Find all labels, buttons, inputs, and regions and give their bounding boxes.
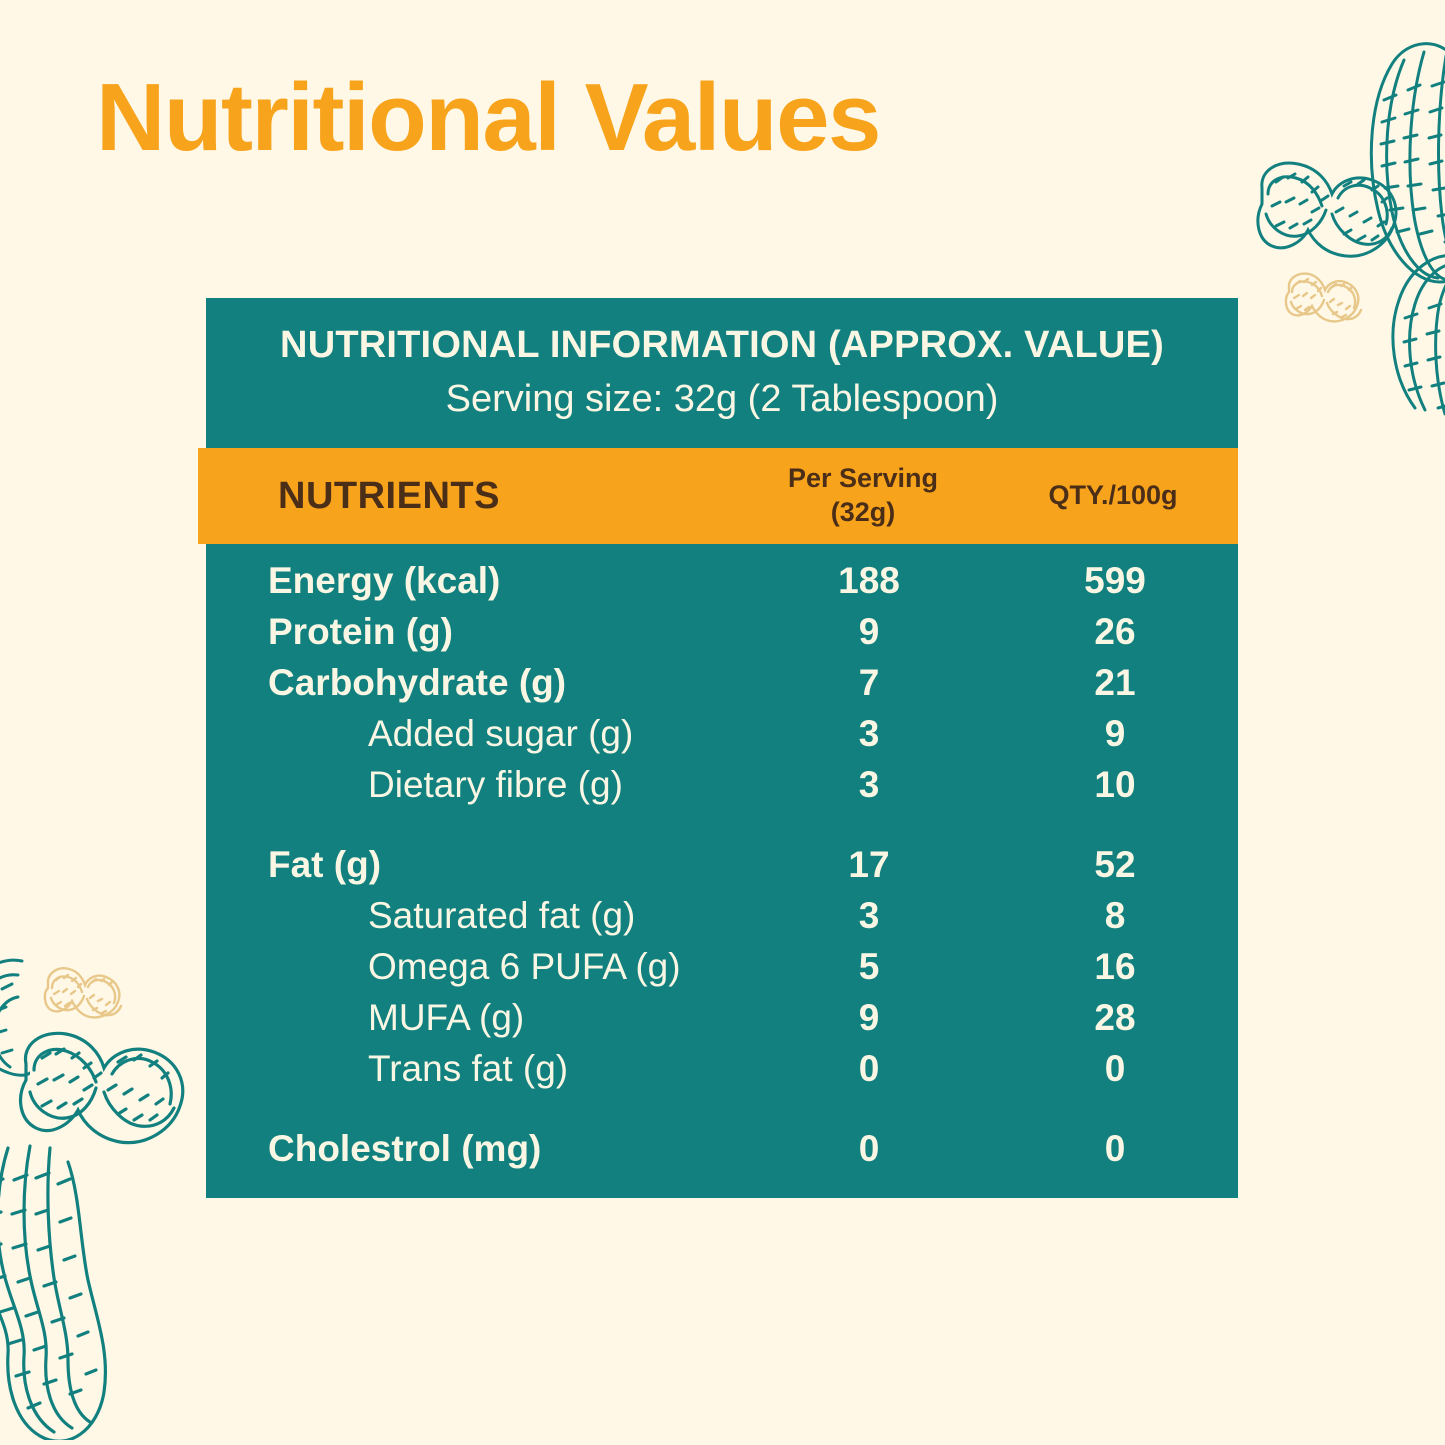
nutrient-label: Trans fat (g): [206, 1048, 746, 1090]
column-header-per-serving: Per Serving (32g): [738, 462, 988, 530]
nutrient-value-per-100g: 0: [992, 1048, 1238, 1090]
page-title: Nutritional Values: [96, 68, 880, 169]
table-row: Dietary fibre (g)310: [206, 764, 1238, 815]
column-header-per-serving-line1: Per Serving: [788, 463, 938, 493]
nutrient-value-per-serving: 3: [746, 895, 992, 937]
column-header-nutrients: NUTRIENTS: [198, 475, 738, 518]
nutrient-label: Saturated fat (g): [206, 895, 746, 937]
nutrient-label: Dietary fibre (g): [206, 764, 746, 806]
nutrient-value-per-serving: 9: [746, 997, 992, 1039]
peanut-illustration-bottom-left-wide: [14, 1024, 189, 1154]
nutrient-value-per-100g: 16: [992, 946, 1238, 988]
nutrient-value-per-serving: 17: [746, 844, 992, 886]
table-row: Cholestrol (mg)00: [206, 1128, 1238, 1179]
table-row: MUFA (g)928: [206, 997, 1238, 1048]
nutrient-label: Added sugar (g): [206, 713, 746, 755]
nutrient-value-per-100g: 26: [992, 611, 1238, 653]
nutrient-label: MUFA (g): [206, 997, 746, 1039]
nutrient-value-per-100g: 9: [992, 713, 1238, 755]
peanut-illustration-top-right-lower: [1375, 238, 1445, 418]
nutrient-value-per-serving: 3: [746, 764, 992, 806]
nutrient-label: Fat (g): [206, 844, 746, 886]
table-row: Fat (g)1752: [206, 844, 1238, 895]
panel-header-title: NUTRITIONAL INFORMATION (APPROX. VALUE): [206, 324, 1238, 368]
nutrient-value-per-serving: 9: [746, 611, 992, 653]
panel-header: NUTRITIONAL INFORMATION (APPROX. VALUE) …: [206, 298, 1238, 421]
nutrient-label: Protein (g): [206, 611, 746, 653]
panel-serving-size: Serving size: 32g (2 Tablespoon): [206, 378, 1238, 422]
nutrient-value-per-serving: 5: [746, 946, 992, 988]
nutrient-label: Energy (kcal): [206, 560, 746, 602]
nutrient-label: Cholestrol (mg): [206, 1128, 746, 1170]
table-row: Omega 6 PUFA (g)516: [206, 946, 1238, 997]
nutrient-value-per-100g: 10: [992, 764, 1238, 806]
table-row: Trans fat (g)00: [206, 1048, 1238, 1099]
table-column-header-row: NUTRIENTS Per Serving (32g) QTY./100g: [198, 448, 1238, 544]
nutrient-value-per-serving: 0: [746, 1048, 992, 1090]
peanut-illustration-top-right-small: [1283, 268, 1363, 324]
table-row: Carbohydrate (g)721: [206, 662, 1238, 713]
nutrient-value-per-100g: 0: [992, 1128, 1238, 1170]
nutrient-value-per-100g: 599: [992, 560, 1238, 602]
peanut-illustration-top-right-large: [1348, 30, 1445, 290]
nutrient-value-per-100g: 28: [992, 997, 1238, 1039]
poster-canvas: Nutritional Values NUTRITIONAL INFORMATI…: [0, 0, 1445, 1445]
nutrient-value-per-serving: 0: [746, 1128, 992, 1170]
nutrient-value-per-100g: 52: [992, 844, 1238, 886]
table-row: Protein (g)926: [206, 611, 1238, 662]
column-header-per-serving-line2: (32g): [738, 496, 988, 530]
peanut-illustration-bottom-left-tall: [0, 1140, 111, 1440]
nutrition-information-panel: NUTRITIONAL INFORMATION (APPROX. VALUE) …: [206, 298, 1238, 1198]
table-row: Energy (kcal)188599: [206, 560, 1238, 611]
nutrient-label: Carbohydrate (g): [206, 662, 746, 704]
peanut-illustration-top-right-wide: [1252, 152, 1402, 272]
nutrient-value-per-serving: 188: [746, 560, 992, 602]
table-row: Added sugar (g)39: [206, 713, 1238, 764]
table-row: Saturated fat (g)38: [206, 895, 1238, 946]
column-header-qty-100g: QTY./100g: [988, 479, 1238, 513]
nutrient-value-per-100g: 21: [992, 662, 1238, 704]
nutrition-table-body: Energy (kcal)188599Protein (g)926Carbohy…: [206, 560, 1238, 1179]
nutrient-value-per-100g: 8: [992, 895, 1238, 937]
nutrient-value-per-serving: 7: [746, 662, 992, 704]
nutrient-label: Omega 6 PUFA (g): [206, 946, 746, 988]
nutrient-value-per-serving: 3: [746, 713, 992, 755]
peanut-illustration-bottom-left-small: [42, 962, 124, 1020]
peanut-illustration-bottom-left-edge: [0, 955, 30, 1085]
